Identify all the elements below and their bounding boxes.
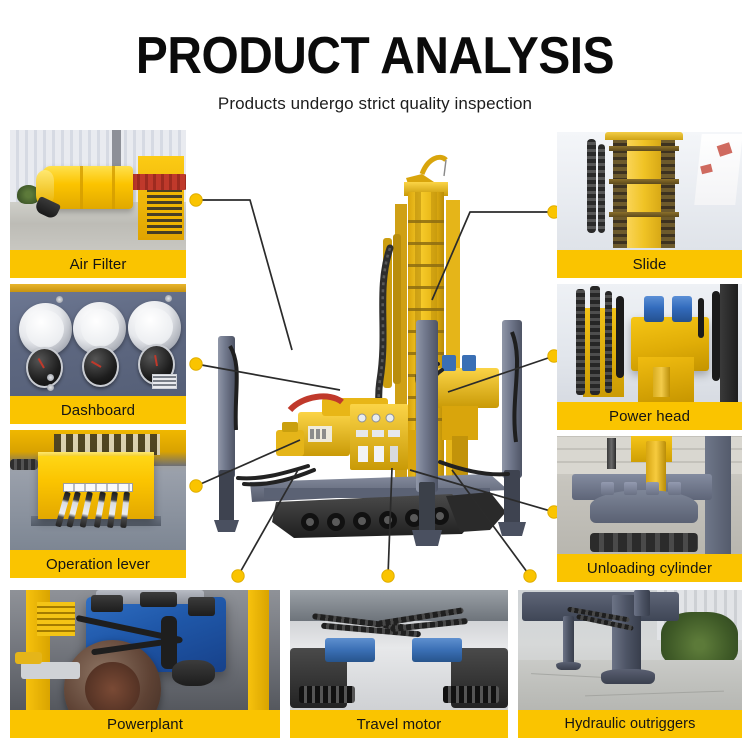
- panel-caption-powerplant: Powerplant: [10, 710, 280, 738]
- panel-caption-unloading-cylinder: Unloading cylinder: [557, 554, 742, 582]
- panel-caption-operation-lever: Operation lever: [10, 550, 186, 578]
- photo-power-head: [557, 284, 742, 402]
- photo-travel-motor: [290, 590, 508, 710]
- panel-slide[interactable]: Slide: [557, 132, 742, 278]
- infographic-canvas: PRODUCT ANALYSIS Products undergo strict…: [0, 0, 750, 750]
- panel-caption-air-filter: Air Filter: [10, 250, 186, 278]
- panel-hydraulic-outriggers[interactable]: Hydraulic outriggers: [518, 590, 742, 738]
- drilling-rig-illustration: [190, 130, 560, 590]
- photo-unloading-cylinder: [557, 436, 742, 554]
- photo-operation-lever: [10, 430, 186, 550]
- photo-hydraulic-outriggers: [518, 590, 742, 710]
- panel-caption-hydraulic-outriggers: Hydraulic outriggers: [518, 710, 742, 738]
- photo-air-filter: [10, 130, 186, 250]
- panel-air-filter[interactable]: Air Filter: [10, 130, 186, 278]
- panel-caption-power-head: Power head: [557, 402, 742, 430]
- panel-caption-travel-motor: Travel motor: [290, 710, 508, 738]
- central-product-image: [190, 130, 560, 590]
- panel-powerplant[interactable]: Powerplant: [10, 590, 280, 738]
- panel-caption-slide: Slide: [557, 250, 742, 278]
- panel-travel-motor[interactable]: Travel motor: [290, 590, 508, 738]
- header: PRODUCT ANALYSIS Products undergo strict…: [0, 0, 750, 114]
- page-subtitle: Products undergo strict quality inspecti…: [0, 94, 750, 114]
- page-title: PRODUCT ANALYSIS: [30, 30, 720, 82]
- panel-caption-dashboard: Dashboard: [10, 396, 186, 424]
- panel-unloading-cylinder[interactable]: Unloading cylinder: [557, 436, 742, 582]
- photo-dashboard: [10, 284, 186, 396]
- photo-slide: [557, 132, 742, 250]
- photo-powerplant: [10, 590, 280, 710]
- panel-power-head[interactable]: Power head: [557, 284, 742, 430]
- panel-operation-lever[interactable]: Operation lever: [10, 430, 186, 578]
- panel-dashboard[interactable]: Dashboard: [10, 284, 186, 424]
